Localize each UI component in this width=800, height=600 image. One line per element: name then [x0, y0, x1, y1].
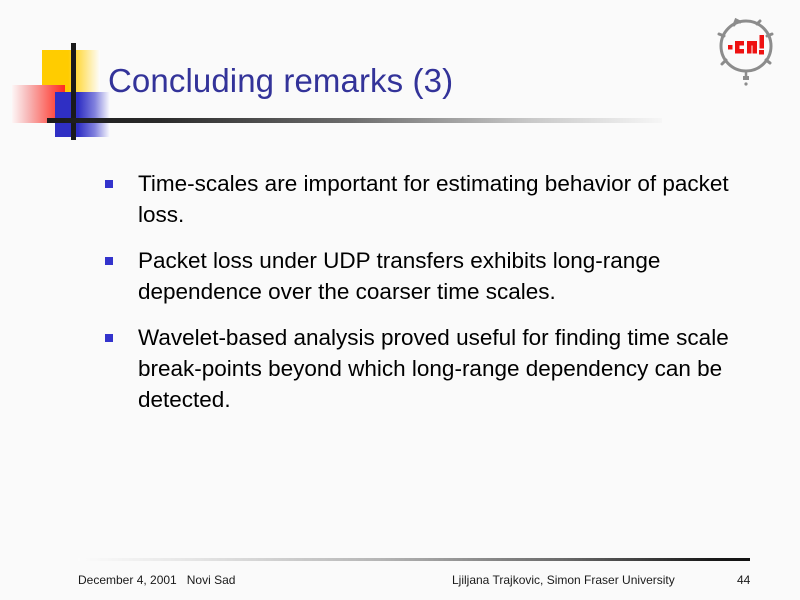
- bullet-list: Time-scales are important for estimating…: [105, 168, 755, 430]
- decoration-yellow-square: [42, 50, 100, 97]
- slide-title: Concluding remarks (3): [108, 62, 453, 100]
- footer-author-affiliation: Ljiljana Trajkovic, Simon Fraser Univers…: [452, 573, 675, 587]
- footer-page-number: 44: [737, 573, 750, 587]
- list-item: Packet loss under UDP transfers exhibits…: [105, 245, 755, 307]
- footer-date-location: December 4, 2001 Novi Sad: [78, 573, 235, 587]
- logo-ring-glyph: [719, 20, 772, 86]
- decoration-blue-square: [55, 92, 110, 137]
- logo-cnl-text: [728, 35, 764, 55]
- square-bullet-icon: [105, 334, 113, 342]
- presentation-slide: Concluding remarks (3): [0, 0, 800, 600]
- title-underline-rule: [47, 118, 662, 123]
- list-item: Wavelet-based analysis proved useful for…: [105, 322, 755, 415]
- square-bullet-icon: [105, 180, 113, 188]
- square-bullet-icon: [105, 257, 113, 265]
- cnl-logo: [714, 16, 778, 86]
- list-item-label: Packet loss under UDP transfers exhibits…: [138, 245, 738, 307]
- list-item-label: Time-scales are important for estimating…: [138, 168, 738, 230]
- list-item: Time-scales are important for estimating…: [105, 168, 755, 230]
- footer-rule: [78, 558, 750, 561]
- list-item-label: Wavelet-based analysis proved useful for…: [138, 322, 738, 415]
- decoration-vertical-rule: [71, 43, 76, 140]
